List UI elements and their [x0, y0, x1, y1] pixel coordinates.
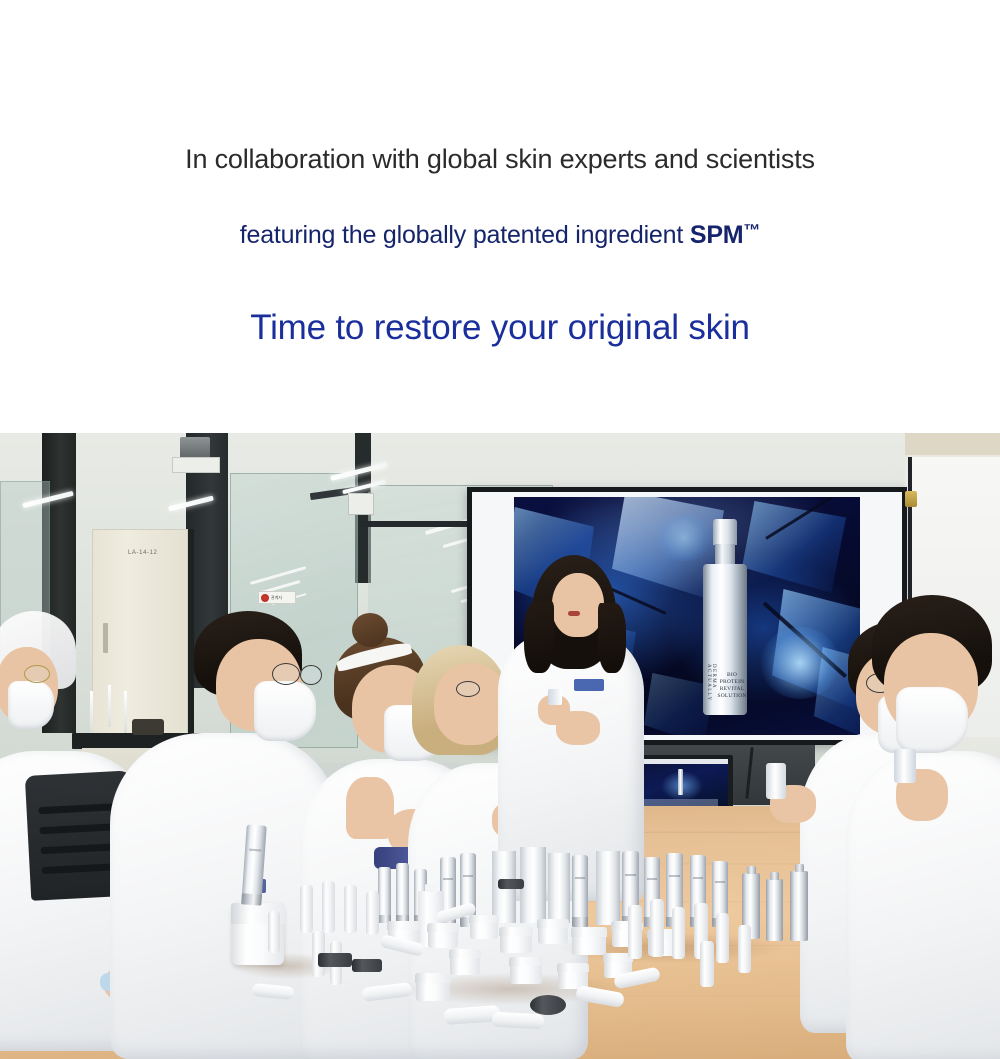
- lips: [568, 611, 580, 616]
- headline-primary: In collaboration with global skin expert…: [0, 144, 1000, 175]
- product-jar: [450, 949, 480, 975]
- product-pump-bottle: [790, 871, 808, 941]
- product-pump-bottle: [766, 879, 783, 941]
- product-tube: [572, 855, 588, 927]
- door-frame: [188, 529, 194, 744]
- held-sample-2: [766, 763, 786, 799]
- held-sample: [894, 749, 916, 783]
- product-stick: [700, 941, 714, 987]
- headline-secondary-prefix: featuring the globally patented ingredie…: [240, 221, 690, 249]
- product-stick: [300, 885, 313, 933]
- product-carton: [548, 853, 570, 923]
- headline-secondary: featuring the globally patented ingredie…: [0, 221, 1000, 250]
- product-stick-lying: [492, 1012, 545, 1030]
- bottle-body: DERMA ACTUALLY BIO PROTEIN REVITAL SOLUT…: [703, 564, 747, 715]
- right-wall-trim: [905, 433, 1000, 455]
- drying-rack-rod-2: [108, 685, 111, 727]
- headline-tagline: Time to restore your original skin: [0, 308, 1000, 348]
- product-compact-dark: [498, 879, 524, 889]
- coat-logo-mark: [574, 679, 604, 691]
- product-jar: [510, 957, 542, 984]
- hair-side: [524, 601, 554, 673]
- product-ampoule: [378, 867, 391, 923]
- ceiling-bracket: [180, 437, 210, 459]
- face-mask: [254, 681, 316, 741]
- product-stick: [716, 913, 729, 963]
- lab-meeting-photo: LA-14-12 관계자: [0, 433, 1000, 1059]
- product-ampoule: [396, 863, 409, 923]
- product-name-line2: REVITAL: [715, 686, 749, 693]
- sign-seal-icon: [261, 594, 269, 602]
- head: [552, 573, 604, 637]
- trademark-symbol: ™: [743, 221, 760, 240]
- face-mask: [8, 681, 54, 729]
- hair-bun: [352, 613, 388, 647]
- sample-vial: [548, 689, 562, 705]
- glasses-icon: [272, 663, 300, 685]
- hand-raised: [346, 777, 394, 839]
- product-compact-dark: [352, 959, 382, 972]
- drying-rack-rod-3: [124, 691, 127, 733]
- glass-door-sign: 관계자: [258, 591, 296, 604]
- bottle-cap: [713, 519, 737, 545]
- product-stick: [322, 881, 335, 933]
- product-name-line1: BIO PROTEIN: [715, 672, 749, 686]
- product-jar: [538, 919, 568, 944]
- product-jar: [428, 923, 458, 948]
- laptop-screen: [633, 759, 728, 809]
- product-name-line3: SOLUTION: [715, 693, 749, 700]
- product-stick: [628, 905, 642, 959]
- product-stick: [268, 911, 280, 953]
- promo-page: In collaboration with global skin expert…: [0, 0, 1000, 1059]
- door-handle: [103, 623, 108, 653]
- door-room-code-label: LA-14-12: [128, 550, 157, 556]
- glasses-icon: [456, 681, 480, 697]
- product-stick: [366, 891, 379, 935]
- product-jar: [572, 927, 606, 955]
- product-stick: [738, 925, 751, 973]
- head: [434, 663, 508, 745]
- product-name-label: BIO PROTEIN REVITAL SOLUTION: [715, 672, 749, 700]
- product-jar: [500, 927, 532, 953]
- hand-right: [556, 711, 600, 745]
- ingredient-name: SPM: [690, 221, 744, 249]
- drying-rack-rod: [90, 691, 93, 733]
- laptop-slide-bottle: [678, 769, 683, 795]
- bottle-neck: [715, 544, 735, 566]
- product-jar: [470, 915, 498, 939]
- glasses-icon-2: [300, 665, 322, 685]
- ceiling-plate: [172, 457, 220, 473]
- product-carton: [596, 851, 620, 925]
- whiteboard-clip: [905, 491, 917, 507]
- product-compact-dark: [530, 995, 566, 1015]
- product-stick: [672, 907, 685, 959]
- product-stick: [344, 885, 357, 933]
- product-jar: [416, 973, 450, 1001]
- headline-section: In collaboration with global skin expert…: [0, 0, 1000, 433]
- product-bottle: DERMA ACTUALLY BIO PROTEIN REVITAL SOLUT…: [700, 519, 750, 715]
- hair-side-2: [598, 603, 626, 673]
- sign-text: 관계자: [271, 595, 282, 601]
- laptop-toolbar: [633, 759, 728, 764]
- product-compact-dark: [318, 953, 352, 967]
- product-stick: [650, 899, 664, 957]
- laptop-slide-caption: [643, 799, 718, 806]
- glasses-icon: [24, 665, 50, 683]
- face-mask: [896, 687, 968, 753]
- bench-equipment: [132, 719, 164, 735]
- ceiling-mount-plate: [348, 493, 374, 515]
